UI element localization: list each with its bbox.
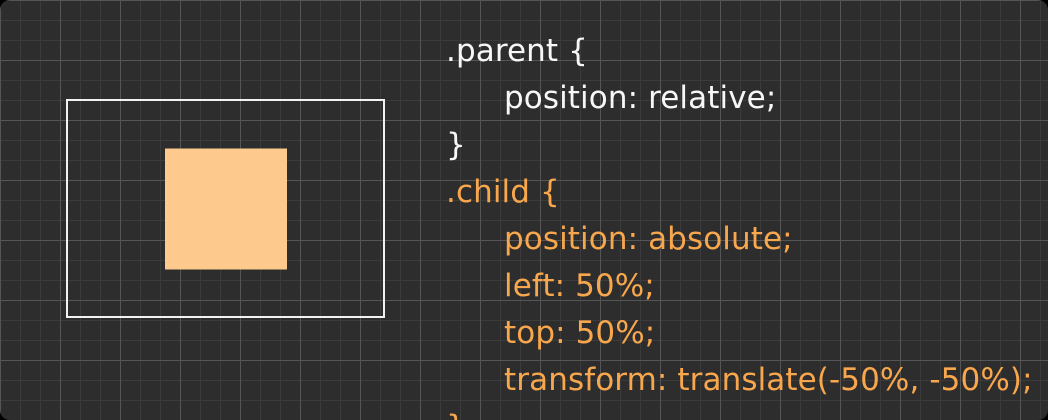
- child-box: [165, 148, 287, 269]
- demo-diagram: [0, 0, 430, 420]
- code-line-parent-position: position: relative;: [446, 75, 1042, 122]
- code-line-child-transform: transform: translate(-50%, -50%);: [446, 357, 1042, 404]
- code-line-child-selector: .child {: [446, 169, 1042, 216]
- code-line-child-top: top: 50%;: [446, 310, 1042, 357]
- illustration-canvas: .parent { position: relative; } .child {…: [0, 0, 1048, 420]
- code-line-parent-close: }: [446, 122, 1042, 169]
- code-line-child-left: left: 50%;: [446, 263, 1042, 310]
- css-code-panel: .parent { position: relative; } .child {…: [446, 28, 1042, 420]
- parent-box: [66, 99, 385, 318]
- code-line-child-position: position: absolute;: [446, 216, 1042, 263]
- code-line-child-close: }: [446, 404, 1042, 420]
- code-line-parent-selector: .parent {: [446, 28, 1042, 75]
